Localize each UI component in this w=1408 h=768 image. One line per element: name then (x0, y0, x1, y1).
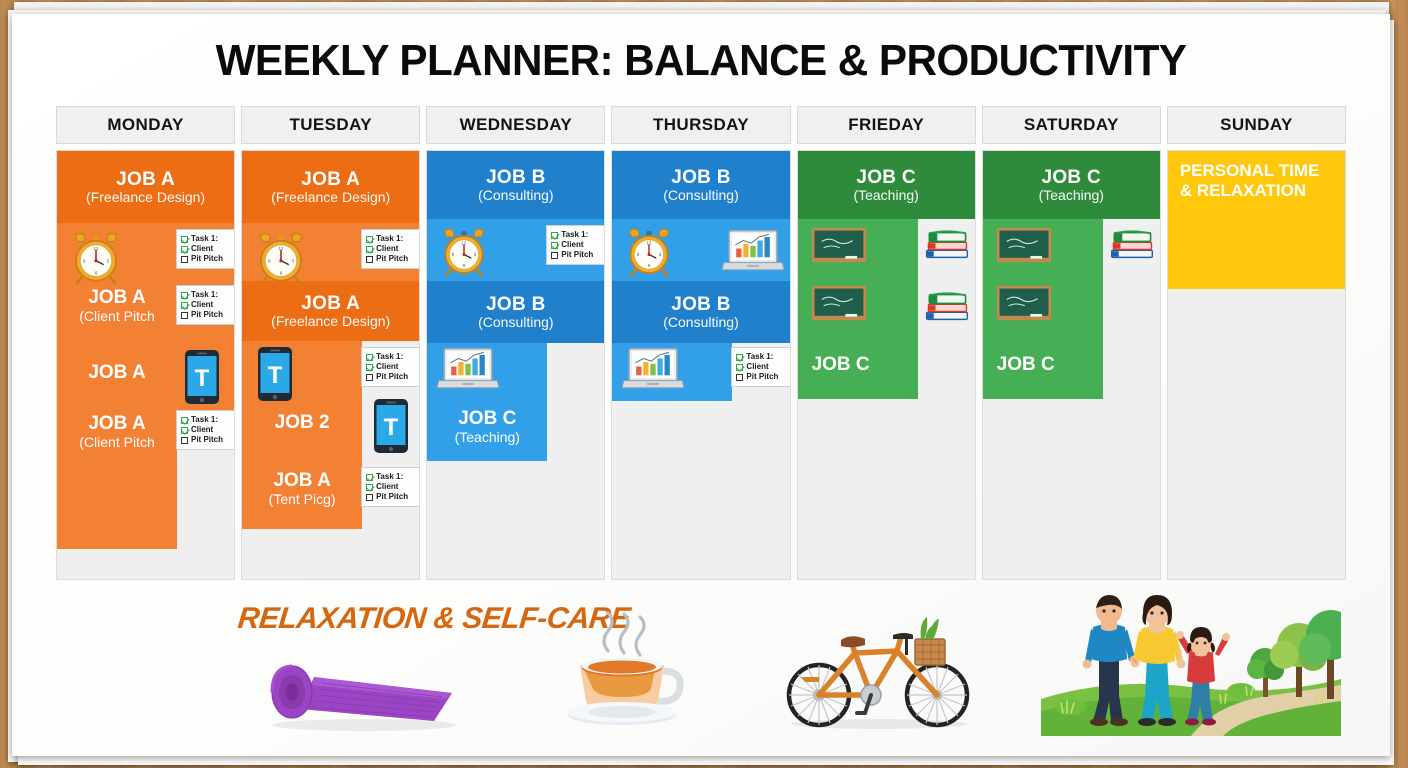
event-label: JOB A (57, 363, 177, 384)
event-title: JOB C (856, 167, 916, 188)
checklist-row[interactable]: Client (736, 362, 788, 372)
event-subtitle: & RELAXATION (1180, 181, 1333, 201)
event-subtitle: (Teaching) (427, 430, 547, 445)
checklist-label: Client (561, 240, 583, 250)
day-body-friday[interactable]: JOB C (Teaching) (797, 150, 976, 580)
task-checklist[interactable]: Task 1: Client Pit Pitch (731, 347, 790, 387)
checkbox-checked[interactable] (181, 302, 188, 309)
day-column-monday: MONDAY JOB A (Freelance Design) (56, 106, 235, 580)
event-subtitle: (Teaching) (853, 188, 918, 204)
checkbox-checked[interactable] (366, 484, 373, 491)
event-title: JOB B (486, 294, 546, 315)
event-title: JOB C (812, 355, 918, 376)
svg-text:12: 12 (93, 246, 99, 251)
checkbox-checked[interactable] (551, 232, 558, 239)
svg-text:T: T (268, 362, 283, 389)
event-title: JOB B (671, 294, 731, 315)
planner-page: WEEKLY PLANNER: BALANCE & PRODUCTIVITY M… (12, 14, 1390, 756)
task-checklist[interactable]: Task 1: Client Pit Pitch (176, 229, 235, 269)
day-body-sunday[interactable]: PERSONAL TIME & RELAXATION (1167, 150, 1346, 580)
checkbox-unchecked[interactable] (181, 256, 188, 263)
event-title: JOB A (116, 169, 175, 190)
page-title: WEEKLY PLANNER: BALANCE & PRODUCTIVITY (40, 36, 1363, 86)
checklist-row[interactable]: Pit Pitch (551, 250, 603, 260)
day-body-saturday[interactable]: JOB C (Teaching) (982, 150, 1161, 580)
day-body-tuesday[interactable]: JOB A (Freelance Design) JOB A (Freelanc… (241, 150, 420, 580)
checklist-row[interactable]: Pit Pitch (366, 492, 418, 502)
chalkboard-icon (810, 285, 868, 323)
checklist-label: Client (746, 362, 768, 372)
books-icon (924, 289, 970, 325)
checkbox-checked[interactable] (366, 474, 373, 481)
event-subtitle: (Consulting) (478, 315, 553, 331)
event-subtitle: (Client Pitch (57, 309, 177, 324)
event-block[interactable]: JOB B (Consulting) (427, 281, 604, 343)
checklist-row[interactable]: Pit Pitch (366, 254, 418, 264)
checklist-row[interactable]: Pit Pitch (366, 372, 418, 382)
day-header-sunday: SUNDAY (1167, 106, 1346, 144)
event-title: JOB C (997, 355, 1103, 376)
checklist-label: Client (191, 244, 213, 254)
checklist-label: Client (376, 362, 398, 372)
event-subtitle: (Tent Picg) (242, 492, 362, 507)
checklist-label: Pit Pitch (376, 254, 408, 264)
checklist-row[interactable]: Task 1: (736, 352, 788, 362)
checkbox-unchecked[interactable] (736, 374, 743, 381)
event-title: JOB A (57, 363, 177, 384)
alarm-clock-icon: 123 69 (252, 229, 310, 287)
checklist-row[interactable]: Client (181, 300, 233, 310)
checklist-row[interactable]: Task 1: (181, 415, 233, 425)
svg-text:T: T (195, 365, 210, 392)
checklist-label: Task 1: (191, 415, 218, 425)
checklist-label: Pit Pitch (191, 310, 223, 320)
checklist-label: Pit Pitch (191, 435, 223, 445)
checklist-row[interactable]: Task 1: (366, 234, 418, 244)
checkbox-checked[interactable] (181, 236, 188, 243)
task-checklist[interactable]: Task 1: Client Pit Pitch (176, 285, 235, 325)
checklist-row[interactable]: Task 1: (181, 290, 233, 300)
svg-text:12: 12 (647, 240, 652, 245)
checklist-row[interactable]: Task 1: (366, 472, 418, 482)
checkbox-checked[interactable] (551, 242, 558, 249)
alarm-clock-icon: 123 69 (67, 229, 125, 287)
books-icon (924, 227, 970, 263)
checkbox-unchecked[interactable] (181, 312, 188, 319)
event-block[interactable]: JOB A (Freelance Design) (242, 281, 419, 341)
event-subtitle: (Consulting) (478, 188, 553, 204)
checkbox-unchecked[interactable] (366, 494, 373, 501)
day-column-saturday: SATURDAY JOB C (Teaching) (982, 106, 1161, 580)
checkbox-checked[interactable] (366, 236, 373, 243)
task-checklist[interactable]: Task 1: Client Pit Pitch (546, 225, 605, 265)
alarm-clock-icon: 123 69 (622, 225, 680, 283)
phone-icon: T (258, 347, 292, 401)
event-label: JOB C (Teaching) (427, 409, 547, 445)
laptop-chart-icon (437, 347, 499, 393)
checkbox-checked[interactable] (366, 354, 373, 361)
checklist-label: Task 1: (376, 234, 403, 244)
event-label: JOB A (Tent Picg) (242, 471, 362, 507)
checklist-label: Task 1: (191, 234, 218, 244)
checklist-row[interactable]: Client (551, 240, 603, 250)
checklist-label: Client (191, 425, 213, 435)
event-subtitle: (Freelance Design) (86, 190, 205, 206)
tea-cup-icon (556, 611, 686, 734)
bicycle-icon (771, 607, 986, 737)
day-header-monday: MONDAY (56, 106, 235, 144)
event-label: JOB C (983, 355, 1103, 376)
checkbox-checked[interactable] (181, 417, 188, 424)
event-title: JOB B (671, 167, 731, 188)
day-header-friday: FRIEDAY (797, 106, 976, 144)
day-column-wednesday: WEDNESDAY JOB B (Consulting) JOB B (Cons… (426, 106, 605, 580)
phone-icon: T (185, 350, 219, 404)
alarm-clock-icon: 123 69 (437, 225, 495, 283)
checkbox-checked[interactable] (181, 292, 188, 299)
checklist-row[interactable]: Pit Pitch (181, 310, 233, 320)
event-block[interactable]: JOB A (Freelance Design) (242, 151, 419, 223)
checkbox-checked[interactable] (366, 364, 373, 371)
checkbox-checked[interactable] (181, 427, 188, 434)
checkbox-checked[interactable] (736, 354, 743, 361)
checkbox-unchecked[interactable] (181, 437, 188, 444)
checklist-label: Client (376, 482, 398, 492)
task-checklist[interactable]: Task 1: Client Pit Pitch (176, 410, 235, 450)
event-block[interactable]: JOB B (Consulting) (612, 151, 789, 219)
event-block[interactable]: PERSONAL TIME & RELAXATION (1168, 151, 1345, 289)
event-block[interactable]: JOB C (Teaching) (798, 151, 975, 219)
checklist-label: Pit Pitch (376, 372, 408, 382)
event-block[interactable]: JOB C (Teaching) (983, 151, 1160, 219)
task-checklist[interactable]: Task 1: Client Pit Pitch (361, 229, 420, 269)
checklist-label: Client (191, 300, 213, 310)
day-column-thursday: THURSDAY JOB B (Consulting) JOB B (Consu… (611, 106, 790, 580)
day-column-friday: FRIEDAY JOB C (Teaching) (797, 106, 976, 580)
svg-text:12: 12 (279, 246, 285, 251)
books-icon (1109, 227, 1155, 263)
event-label: JOB C (798, 355, 918, 376)
chalkboard-icon (995, 227, 1053, 265)
laptop-chart-icon (722, 229, 784, 275)
day-header-wednesday: WEDNESDAY (426, 106, 605, 144)
day-column-sunday: SUNDAY PERSONAL TIME & RELAXATION (1167, 106, 1346, 580)
checklist-row[interactable]: Client (366, 362, 418, 372)
checkbox-checked[interactable] (736, 364, 743, 371)
event-label: JOB A (Client Pitch (57, 414, 177, 450)
checkbox-checked[interactable] (181, 246, 188, 253)
checklist-label: Pit Pitch (746, 372, 778, 382)
event-block[interactable]: JOB A (Freelance Design) (57, 151, 234, 223)
checklist-row[interactable]: Task 1: (366, 352, 418, 362)
event-subtitle: (Teaching) (1039, 188, 1104, 204)
event-subtitle: (Freelance Design) (271, 190, 390, 206)
day-column-tuesday: TUESDAY JOB A (Freelance Design) JOB A (… (241, 106, 420, 580)
checklist-row[interactable]: Task 1: (551, 230, 603, 240)
checklist-row[interactable]: Pit Pitch (181, 254, 233, 264)
day-body-monday[interactable]: JOB A (Freelance Design) (56, 150, 235, 580)
event-title: JOB C (427, 409, 547, 430)
event-block[interactable]: JOB B (Consulting) (427, 151, 604, 219)
event-title: JOB A (242, 471, 362, 492)
event-title: JOB A (301, 169, 360, 190)
checklist-row[interactable]: Client (181, 244, 233, 254)
chalkboard-icon (995, 285, 1053, 323)
day-body-wednesday[interactable]: JOB B (Consulting) JOB B (Consulting) (426, 150, 605, 580)
svg-text:12: 12 (462, 240, 467, 245)
checklist-row[interactable]: Task 1: (181, 234, 233, 244)
event-label: JOB A (Client Pitch (57, 288, 177, 324)
event-subtitle: (Consulting) (663, 188, 738, 204)
event-subtitle: (Consulting) (663, 315, 738, 331)
checklist-label: Task 1: (376, 352, 403, 362)
chalkboard-icon (810, 227, 868, 265)
checkbox-unchecked[interactable] (366, 374, 373, 381)
checkbox-checked[interactable] (366, 246, 373, 253)
event-title: PERSONAL TIME (1180, 161, 1333, 181)
checkbox-unchecked[interactable] (551, 252, 558, 259)
event-title: JOB A (57, 288, 177, 309)
week-grid: MONDAY JOB A (Freelance Design) (56, 106, 1346, 580)
event-block[interactable]: JOB B (Consulting) (612, 281, 789, 343)
checklist-label: Task 1: (746, 352, 773, 362)
yoga-mat-icon (256, 647, 476, 737)
family-walking-park-icon (1041, 591, 1341, 741)
event-title: JOB A (301, 293, 360, 314)
day-header-saturday: SATURDAY (982, 106, 1161, 144)
day-header-thursday: THURSDAY (611, 106, 790, 144)
event-subtitle: (Client Pitch (57, 435, 177, 450)
event-title: JOB A (57, 414, 177, 435)
event-subtitle: (Freelance Design) (271, 314, 390, 330)
phone-icon: T (374, 399, 408, 453)
footer-illustrations: RELAXATION & SELF-CARE (56, 589, 1346, 739)
checklist-label: Pit Pitch (376, 492, 408, 502)
checklist-label: Task 1: (376, 472, 403, 482)
checklist-label: Client (376, 244, 398, 254)
checklist-label: Pit Pitch (191, 254, 223, 264)
checklist-label: Pit Pitch (561, 250, 593, 260)
checklist-row[interactable]: Pit Pitch (181, 435, 233, 445)
checkbox-unchecked[interactable] (366, 256, 373, 263)
event-title: JOB C (1041, 167, 1101, 188)
day-body-thursday[interactable]: JOB B (Consulting) JOB B (Consulting) (611, 150, 790, 580)
day-header-tuesday: TUESDAY (241, 106, 420, 144)
checklist-row[interactable]: Client (366, 244, 418, 254)
checklist-label: Task 1: (561, 230, 588, 240)
event-title: JOB B (486, 167, 546, 188)
checklist-row[interactable]: Pit Pitch (736, 372, 788, 382)
task-checklist[interactable]: Task 1: Client Pit Pitch (361, 467, 420, 507)
laptop-chart-icon (622, 347, 684, 393)
svg-text:T: T (384, 414, 399, 441)
checklist-row[interactable]: Client (181, 425, 233, 435)
checklist-label: Task 1: (191, 290, 218, 300)
event-title: JOB 2 (242, 413, 362, 434)
event-label: JOB 2 (242, 413, 362, 434)
task-checklist[interactable]: Task 1: Client Pit Pitch (361, 347, 420, 387)
checklist-row[interactable]: Client (366, 482, 418, 492)
